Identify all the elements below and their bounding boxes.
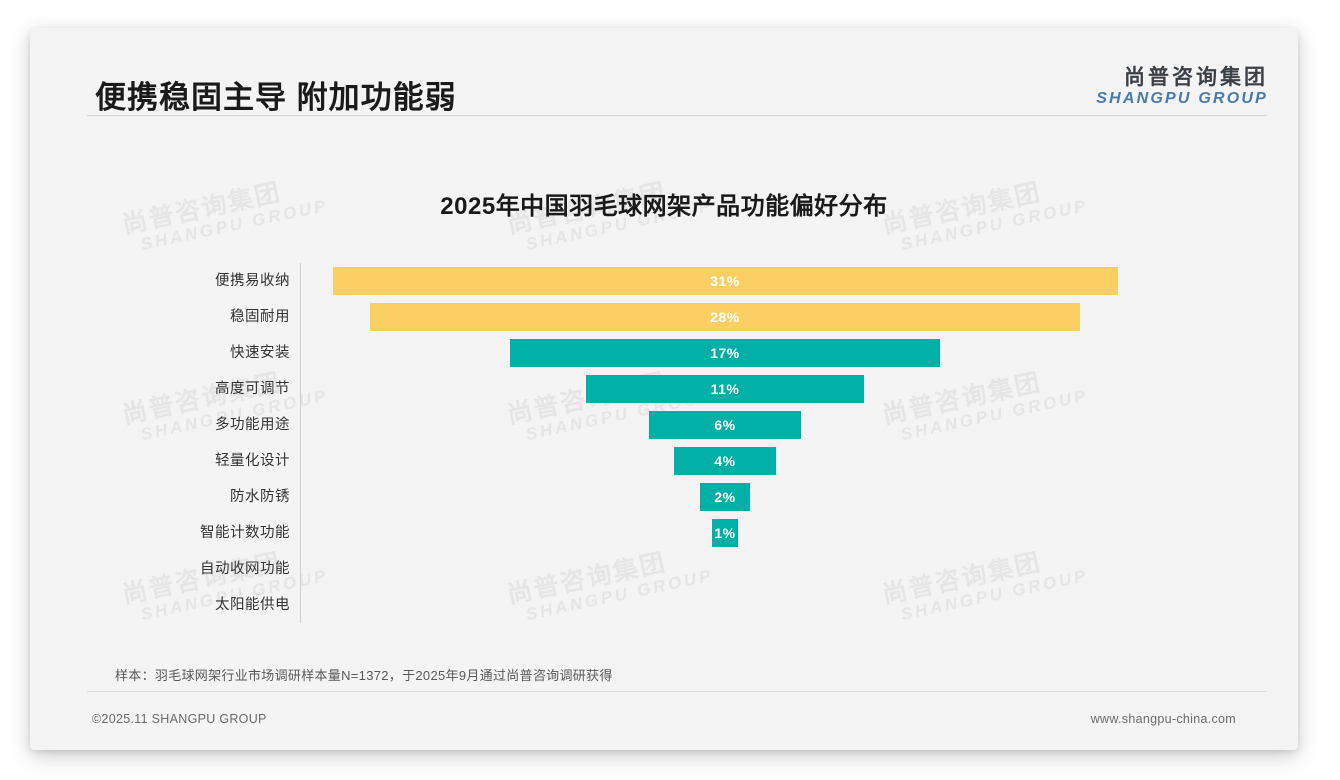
- chart-bar-track: 11%: [301, 371, 1298, 407]
- chart-category-label: 智能计数功能: [200, 515, 290, 551]
- slide-footer: ©2025.11 SHANGPU GROUP www.shangpu-china…: [30, 694, 1298, 750]
- chart-bar-row[interactable]: 智能计数功能1%: [30, 515, 1298, 551]
- chart-bar-row[interactable]: 稳固耐用28%: [30, 299, 1298, 335]
- chart-category-label: 太阳能供电: [215, 587, 290, 623]
- chart-bar-row[interactable]: 防水防锈2%: [30, 479, 1298, 515]
- chart-bar-track: [301, 587, 1298, 623]
- slide-canvas: 尚普咨询集团SHANGPU GROUP尚普咨询集团SHANGPU GROUP尚普…: [30, 28, 1298, 750]
- chart-bar-row[interactable]: 高度可调节11%: [30, 371, 1298, 407]
- chart-category-label: 多功能用途: [215, 407, 290, 443]
- chart-category-label: 自动收网功能: [200, 551, 290, 587]
- chart-bar-value: 2%: [714, 489, 735, 505]
- chart-bar-row[interactable]: 多功能用途6%: [30, 407, 1298, 443]
- chart-category-label: 高度可调节: [215, 371, 290, 407]
- chart-bar[interactable]: 1%: [712, 519, 737, 547]
- chart-bar-row[interactable]: 太阳能供电: [30, 587, 1298, 623]
- chart-bar-track: 31%: [301, 263, 1298, 299]
- chart-bar-track: 28%: [301, 299, 1298, 335]
- footnote-divider: [87, 691, 1267, 692]
- chart-bar-row[interactable]: 自动收网功能: [30, 551, 1298, 587]
- chart-bar[interactable]: 6%: [649, 411, 801, 439]
- chart-bar[interactable]: 2%: [700, 483, 751, 511]
- page-title: 便携稳固主导 附加功能弱: [95, 72, 457, 117]
- chart-title: 2025年中国羽毛球网架产品功能偏好分布: [30, 186, 1298, 221]
- chart-bar-track: 1%: [301, 515, 1298, 551]
- chart-bar[interactable]: 31%: [333, 267, 1118, 295]
- slide-header: 便携稳固主导 附加功能弱 尚普咨询集团 SHANGPU GROUP: [30, 28, 1298, 120]
- chart-bar[interactable]: 4%: [674, 447, 775, 475]
- footer-copyright: ©2025.11 SHANGPU GROUP: [92, 712, 267, 726]
- title-divider: [87, 115, 1267, 116]
- chart-bar-row[interactable]: 便携易收纳31%: [30, 263, 1298, 299]
- brand-logo-cn: 尚普咨询集团: [1096, 66, 1268, 90]
- chart-bar-track: [301, 551, 1298, 587]
- chart-bar-value: 31%: [710, 273, 740, 289]
- chart-category-label: 快速安装: [230, 335, 290, 371]
- chart-bar-track: 6%: [301, 407, 1298, 443]
- chart-bars: 便携易收纳31%稳固耐用28%快速安装17%高度可调节11%多功能用途6%轻量化…: [30, 263, 1298, 623]
- chart-bar[interactable]: 11%: [586, 375, 865, 403]
- chart-bar-row[interactable]: 快速安装17%: [30, 335, 1298, 371]
- chart-category-label: 防水防锈: [230, 479, 290, 515]
- chart-bar-track: 17%: [301, 335, 1298, 371]
- brand-logo: 尚普咨询集团 SHANGPU GROUP: [1096, 66, 1268, 107]
- chart-category-label: 便携易收纳: [215, 263, 290, 299]
- chart-bar-track: 2%: [301, 479, 1298, 515]
- chart-bar-value: 6%: [714, 417, 735, 433]
- chart-bar-track: 4%: [301, 443, 1298, 479]
- footnote-text: 样本：羽毛球网架行业市场调研样本量N=1372，于2025年9月通过尚普咨询调研…: [115, 665, 613, 684]
- chart-bar[interactable]: 28%: [370, 303, 1079, 331]
- chart-bar-value: 28%: [710, 309, 740, 325]
- chart-bar-value: 4%: [714, 453, 735, 469]
- brand-logo-en: SHANGPU GROUP: [1096, 90, 1268, 108]
- chart-bar[interactable]: 17%: [510, 339, 940, 367]
- chart-category-label: 轻量化设计: [215, 443, 290, 479]
- chart-category-label: 稳固耐用: [230, 299, 290, 335]
- footer-website[interactable]: www.shangpu-china.com: [1091, 712, 1236, 726]
- chart-plot: 便携易收纳31%稳固耐用28%快速安装17%高度可调节11%多功能用途6%轻量化…: [30, 263, 1298, 633]
- chart-bar-value: 11%: [711, 381, 740, 397]
- chart-bar-value: 1%: [714, 525, 735, 541]
- chart-bar-value: 17%: [710, 345, 740, 361]
- chart-area: 2025年中国羽毛球网架产品功能偏好分布 便携易收纳31%稳固耐用28%快速安装…: [30, 128, 1298, 668]
- chart-bar-row[interactable]: 轻量化设计4%: [30, 443, 1298, 479]
